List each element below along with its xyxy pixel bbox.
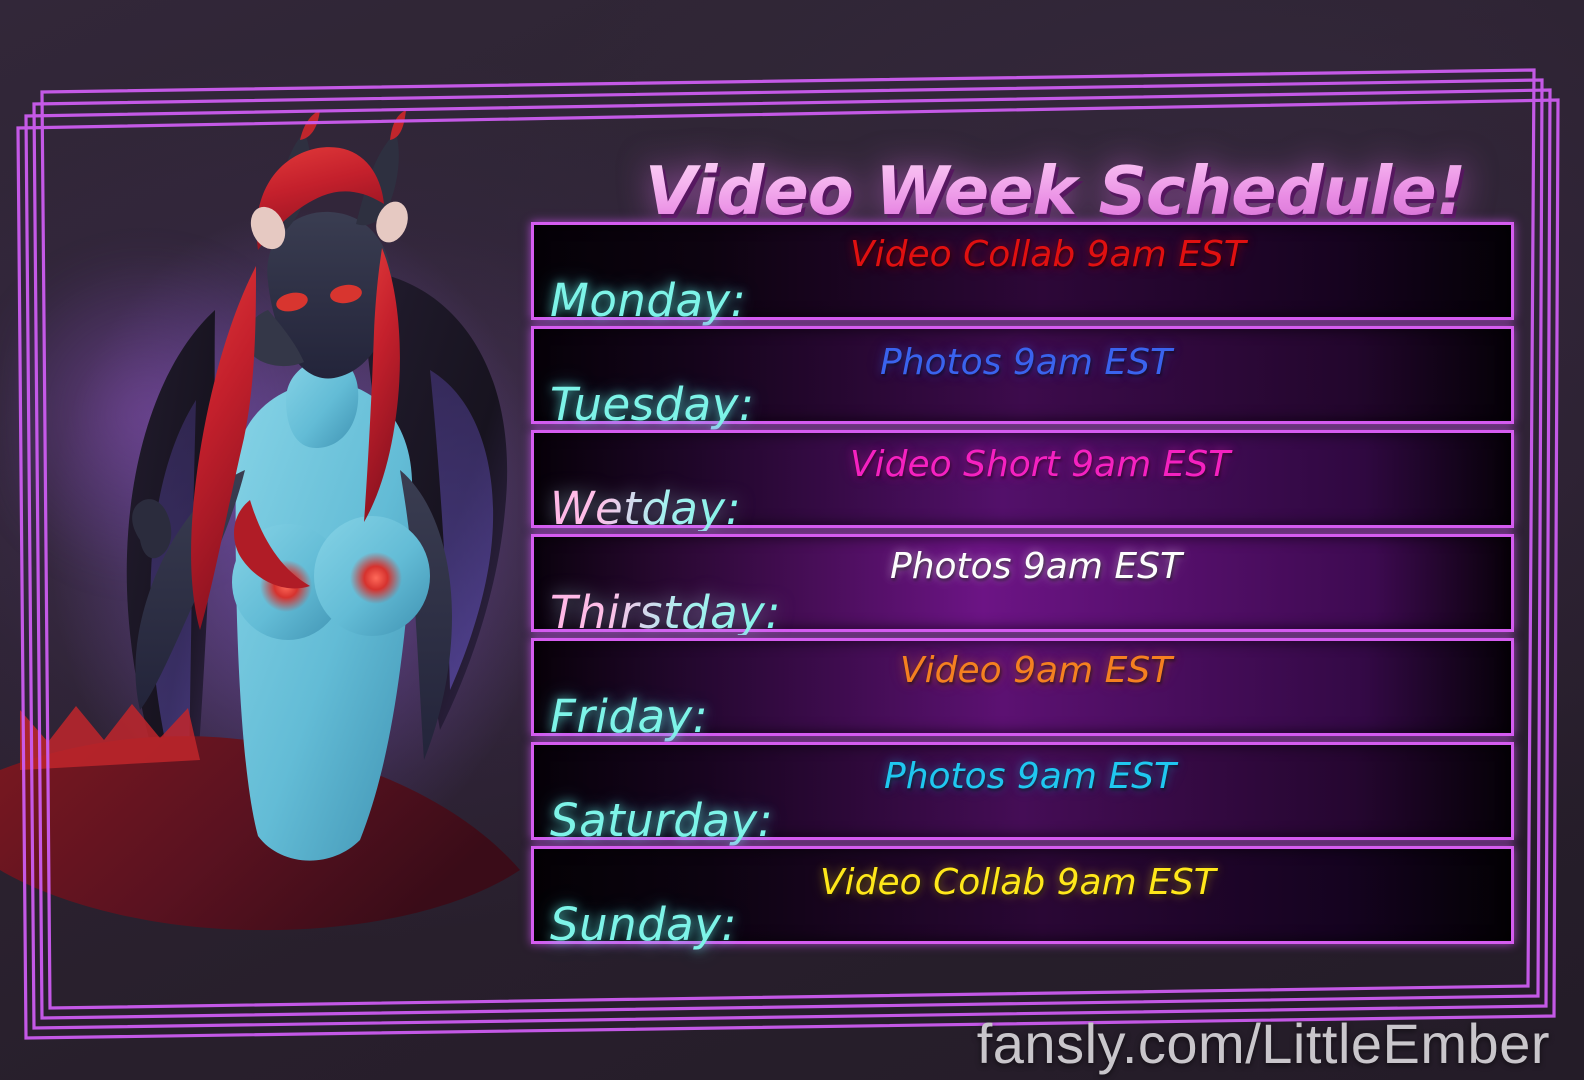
table-row[interactable]: Tuesday: Photos 9am EST	[531, 326, 1514, 424]
day-label: Thirstday:	[550, 590, 781, 635]
nipple-right	[350, 552, 402, 604]
day-value: Video Short 9am EST	[850, 447, 1230, 483]
page-title: Video Week Schedule!	[600, 152, 1510, 230]
day-value: Video Collab 9am EST	[850, 237, 1246, 273]
table-row[interactable]: Thirstday: Photos 9am EST	[531, 534, 1514, 632]
day-label: Sunday:	[550, 902, 737, 947]
table-row[interactable]: Wetday: Video Short 9am EST	[531, 430, 1514, 528]
day-label: Saturday:	[550, 798, 773, 843]
day-value: Photos 9am EST	[880, 345, 1172, 381]
table-row[interactable]: Monday: Video Collab 9am EST	[531, 222, 1514, 320]
dragon-character-artwork	[0, 70, 560, 1020]
watermark: fansly.com/LittleEmber	[977, 1011, 1550, 1076]
day-value: Photos 9am EST	[890, 549, 1182, 585]
day-label: Monday:	[550, 278, 746, 323]
table-row[interactable]: Friday: Video 9am EST	[531, 638, 1514, 736]
day-label: Tuesday:	[550, 382, 755, 427]
day-value: Video Collab 9am EST	[820, 865, 1216, 901]
day-label: Wetday:	[550, 486, 741, 531]
poster-canvas: Video Week Schedule! Monday: Video Colla…	[0, 0, 1584, 1080]
day-label: Friday:	[550, 694, 708, 739]
day-value: Video 9am EST	[900, 653, 1172, 689]
horn-tip-right	[390, 110, 406, 140]
day-value: Photos 9am EST	[884, 759, 1176, 795]
table-row[interactable]: Sunday: Video Collab 9am EST	[531, 846, 1514, 944]
table-row[interactable]: Saturday: Photos 9am EST	[531, 742, 1514, 840]
horn-tip-left	[300, 110, 320, 140]
schedule-table: Monday: Video Collab 9am EST Tuesday: Ph…	[531, 222, 1514, 912]
